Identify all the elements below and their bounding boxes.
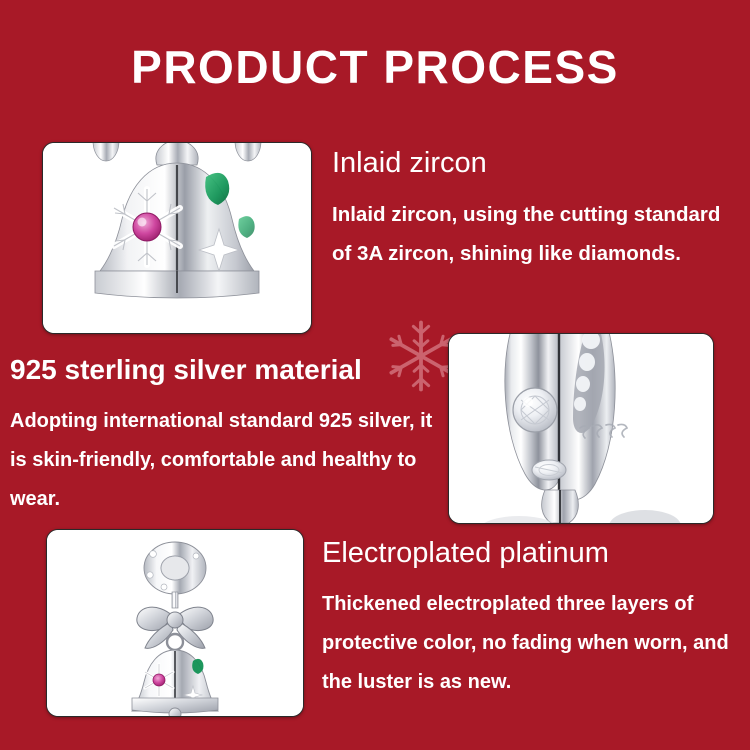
feature-body: Adopting international standard 925 silv… [10, 402, 440, 519]
page-title: PRODUCT PROCESS [0, 42, 750, 92]
feature-body: Inlaid zircon, using the cutting standar… [332, 195, 732, 273]
feature-block-inlaid-zircon: Inlaid zircon Inlaid zircon, using the c… [332, 145, 732, 273]
feature-block-sterling-silver: 925 sterling silver material Adopting in… [10, 352, 440, 519]
full-dangle-charm-photo [46, 529, 304, 717]
feature-heading: 925 sterling silver material [10, 352, 440, 388]
feature-body: Thickened electroplated three layers of … [322, 585, 742, 702]
feature-heading: Electroplated platinum [322, 535, 742, 571]
feature-heading: Inlaid zircon [332, 145, 732, 181]
product-process-poster: PRODUCT PROCESS [0, 0, 750, 750]
feature-block-electroplated-platinum: Electroplated platinum Thickened electro… [322, 535, 742, 702]
bell-charm-closeup-photo [42, 142, 312, 334]
bail-macro-photo [448, 333, 714, 524]
